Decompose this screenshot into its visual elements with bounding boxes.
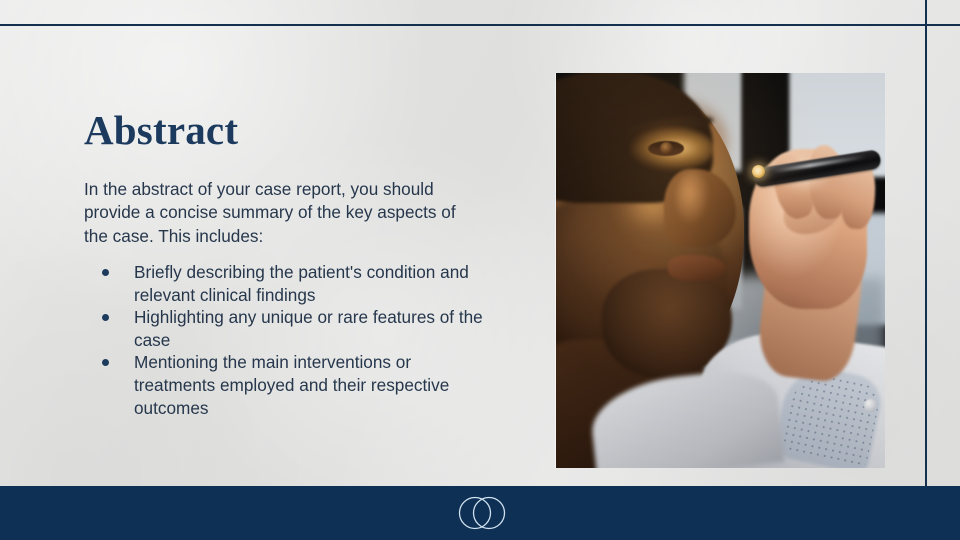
penlight-tip-glow [752,165,765,178]
two-overlapping-circles-logo [455,494,509,532]
patient-iris [660,142,673,155]
patient-lips [668,255,726,281]
list-item: Briefly describing the patient's conditi… [84,261,484,306]
list-item: Mentioning the main interventions or tre… [84,351,484,419]
page-title: Abstract [84,108,238,153]
cuff-button [864,399,877,412]
list-item-label: Mentioning the main interventions or tre… [134,352,449,417]
vertical-rule-right [925,0,927,486]
slide: Abstract In the abstract of your case re… [0,0,960,540]
nose-highlight [676,171,710,225]
bullet-dot-icon [102,359,109,366]
bullet-dot-icon [102,269,109,276]
logo-circle-left [460,498,491,529]
photo-canvas [556,73,885,468]
list-item: Highlighting any unique or rare features… [84,306,484,351]
bullet-dot-icon [102,314,109,321]
list-item-label: Highlighting any unique or rare features… [134,307,483,350]
logo-circle-right [474,498,505,529]
list-item-label: Briefly describing the patient's conditi… [134,262,469,305]
clinical-photo [556,73,885,468]
bullet-list: Briefly describing the patient's conditi… [84,261,484,419]
intro-paragraph: In the abstract of your case report, you… [84,178,476,248]
horizontal-rule-top [0,24,960,26]
